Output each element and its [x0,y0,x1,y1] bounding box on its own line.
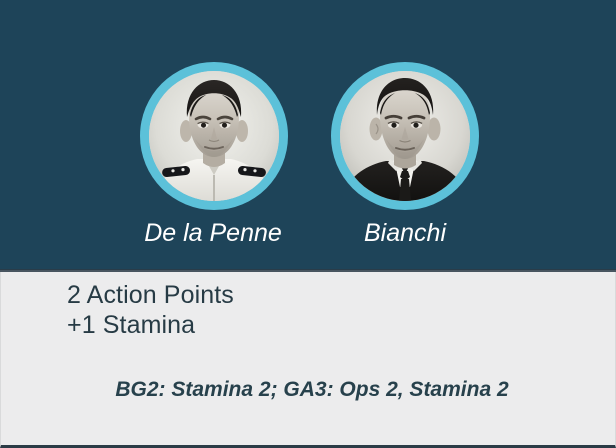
portrait-photo-bianchi [340,71,470,201]
portrait-ring-de-la-penne [140,62,288,210]
portrait-image-bianchi [340,71,470,201]
portrait-photo-de-la-penne [149,71,279,201]
character-de-la-penne[interactable]: De la Penne [139,62,289,248]
character-name-de-la-penne: De la Penne [137,218,289,248]
ability-block: 2 Action Points +1 Stamina [67,280,234,340]
character-name-bianchi: Bianchi [330,218,480,248]
ability-line-action-points: 2 Action Points [67,280,234,310]
stats-panel: 2 Action Points +1 Stamina BG2: Stamina … [0,272,616,448]
portrait-row: De la Penne [0,0,616,270]
portrait-ring-bianchi [331,62,479,210]
upgrade-line: BG2: Stamina 2; GA3: Ops 2, Stamina 2 [1,377,615,403]
character-bianchi[interactable]: Bianchi [330,62,480,248]
portrait-image-de-la-penne [149,71,279,201]
character-card: De la Penne [0,0,616,448]
ability-line-stamina: +1 Stamina [67,310,234,340]
